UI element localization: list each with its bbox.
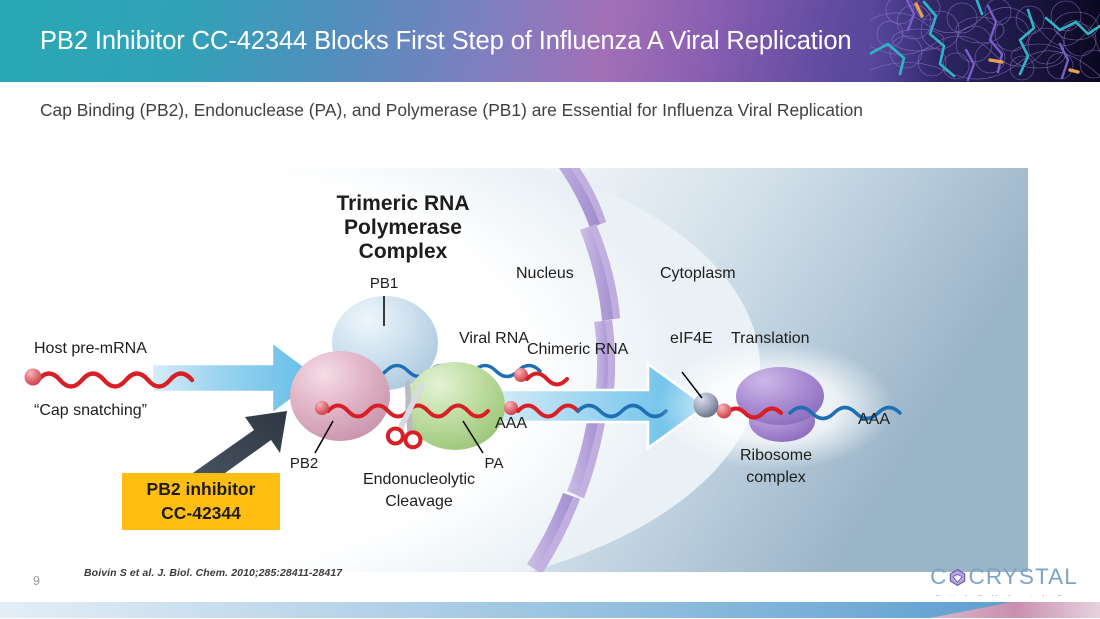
label-aaa-nucleus: AAA xyxy=(495,415,527,432)
label-aaa-cytoplasm: AAA xyxy=(858,411,890,428)
label-pb1: PB1 xyxy=(370,275,398,292)
label-ribosome-1: Ribosome xyxy=(740,447,812,464)
logo-wordmark-text: CRYSTAL xyxy=(968,566,1077,589)
molecular-mesh-graphic xyxy=(870,0,1100,82)
complex-title-line-1: Trimeric RNA xyxy=(336,192,469,215)
label-endonucleolytic-1: Endonucleolytic xyxy=(363,471,475,488)
label-host-pre-mrna: Host pre-mRNA xyxy=(34,340,147,357)
callout-line-2: CC-42344 xyxy=(161,503,241,523)
slide-header: PB2 Inhibitor CC-42344 Blocks First Step… xyxy=(0,0,1100,82)
slide-subtitle: Cap Binding (PB2), Endonuclease (PA), an… xyxy=(40,100,1070,121)
logo-letter-c: C xyxy=(930,566,947,589)
complex-title-line-2: Polymerase xyxy=(344,216,462,239)
label-cytoplasm: Cytoplasm xyxy=(660,265,736,282)
label-chimeric-rna: Chimeric RNA xyxy=(527,341,629,358)
pb2-protein xyxy=(290,351,390,441)
label-viral-rna: Viral RNA xyxy=(459,330,529,347)
page-number: 9 xyxy=(33,574,40,588)
mrna-cap xyxy=(717,404,732,419)
callout-line-1: PB2 inhibitor xyxy=(147,479,256,499)
label-pb2: PB2 xyxy=(290,455,318,472)
viral-replication-diagram: PB2 inhibitor CC-42344 Trimeric RNA Poly… xyxy=(0,168,1028,572)
label-pa: PA xyxy=(485,455,504,472)
label-eif4e: eIF4E xyxy=(670,330,713,347)
label-endonucleolytic-2: Cleavage xyxy=(385,493,453,510)
slide-title: PB2 Inhibitor CC-42344 Blocks First Step… xyxy=(40,0,852,82)
label-translation: Translation xyxy=(731,330,810,347)
label-nucleus: Nucleus xyxy=(516,265,574,282)
label-cap-snatching: “Cap snatching” xyxy=(34,402,147,419)
hexagon-crystal-icon xyxy=(948,568,967,587)
slide: PB2 Inhibitor CC-42344 Blocks First Step… xyxy=(0,0,1100,619)
eif4e-protein xyxy=(694,393,719,418)
citation-reference: Boivin S et al. J. Biol. Chem. 2010;285:… xyxy=(84,567,342,579)
bottom-accent-band xyxy=(0,596,1100,619)
pb2-inhibitor-callout[interactable]: PB2 inhibitor CC-42344 xyxy=(122,473,280,530)
logo-wordmark: C CRYSTAL xyxy=(926,566,1082,589)
complex-title-line-3: Complex xyxy=(359,240,448,263)
label-ribosome-2: complex xyxy=(746,469,806,486)
